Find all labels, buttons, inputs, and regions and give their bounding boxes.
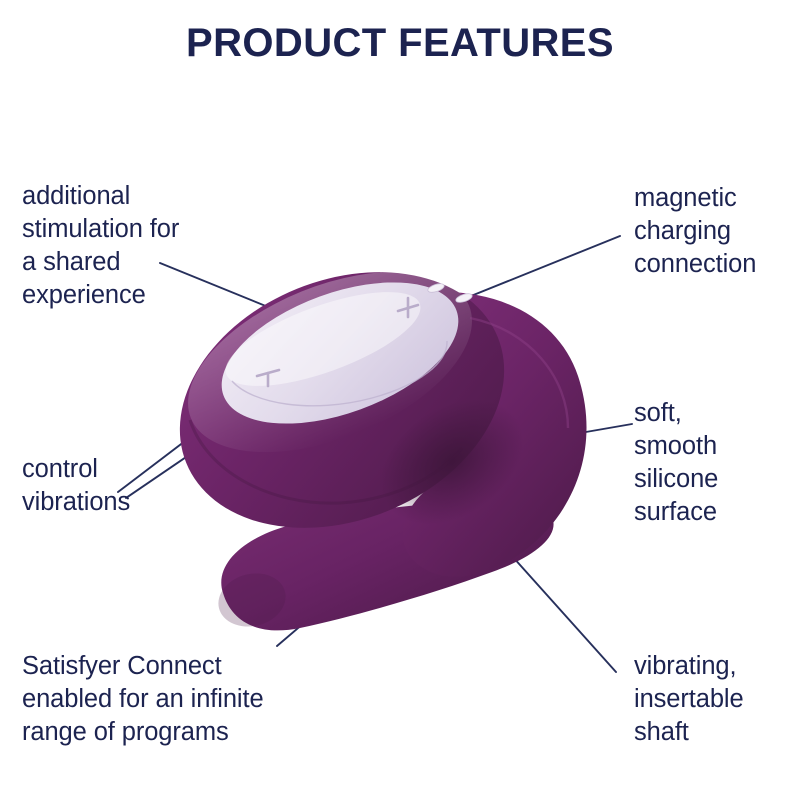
leader-line-magnetic-charging [466,236,620,298]
callout-magnetic-charging: magnetic charging connection [634,182,800,281]
callout-vibrating-shaft: vibrating, insertable shaft [634,650,799,749]
callout-additional-stimulation: additional stimulation for a shared expe… [22,180,262,312]
callout-control-vibrations: control vibrations [22,453,252,519]
leader-line-vibrating-shaft [512,556,616,672]
product-features-diagram: PRODUCT FEATURES [0,0,800,800]
callout-satisfyer-connect: Satisfyer Connect enabled for an infinit… [22,650,352,749]
callout-soft-silicone: soft, smooth silicone surface [634,397,794,529]
